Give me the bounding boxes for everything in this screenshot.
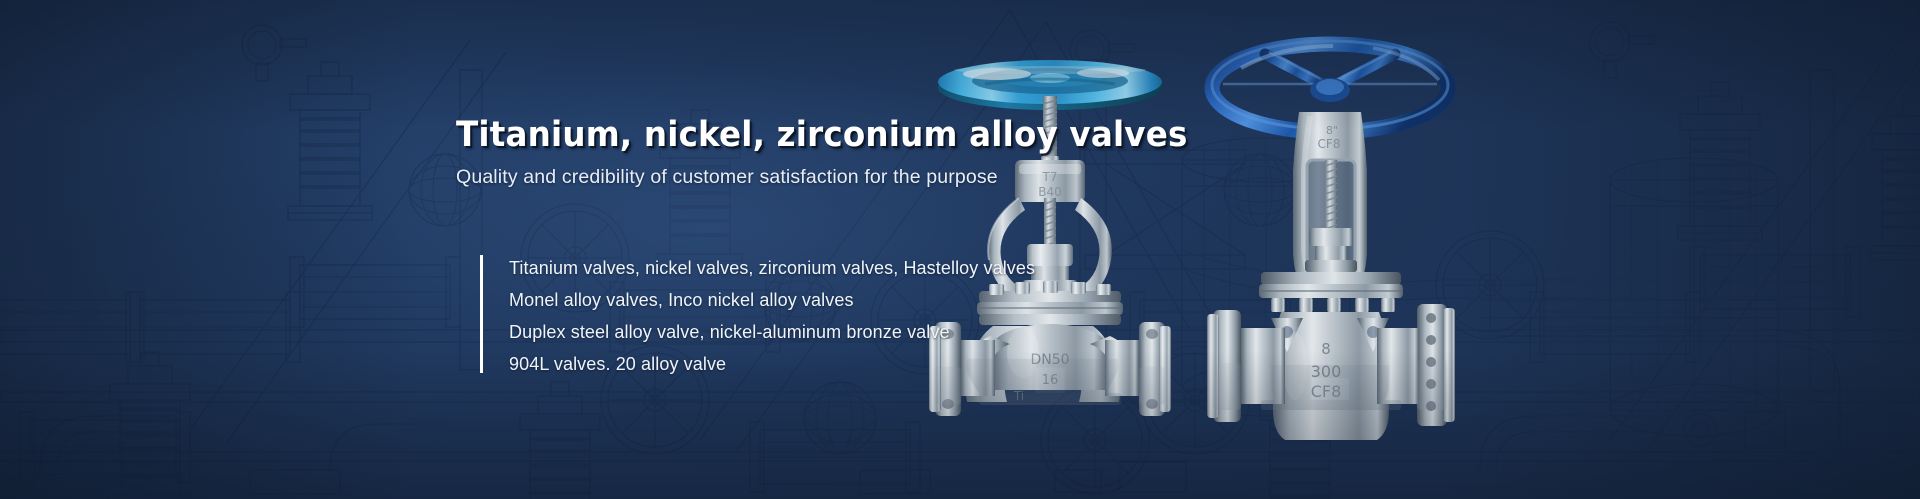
banner-copy: Titanium, nickel, zirconium alloy valves… [456, 118, 1216, 189]
page-subtitle: Quality and credibility of customer sati… [456, 166, 1216, 189]
feature-list: Titanium valves, nickel valves, zirconiu… [480, 255, 1035, 373]
list-item: Duplex steel alloy valve, nickel-aluminu… [509, 319, 1035, 351]
product-banner: T7 B40 [0, 0, 1920, 499]
globe-marking-material: Ti [1013, 389, 1024, 403]
list-item: Titanium valves, nickel valves, zirconiu… [509, 255, 1035, 287]
gate-marking-material: CF8 [1311, 382, 1342, 401]
list-item: Monel alloy valves, Inco nickel alloy va… [509, 287, 1035, 319]
svg-text:CF8: CF8 [1318, 137, 1341, 151]
list-item: 904L valves. 20 alloy valve [509, 351, 1035, 373]
product-image-globe-valve: T7 B40 [915, 48, 1185, 448]
gate-marking-size: 8 [1321, 340, 1331, 358]
product-image-gate-valve: 8" CF8 [1195, 32, 1465, 452]
svg-text:8": 8" [1326, 124, 1338, 137]
gate-marking-class: 300 [1311, 362, 1342, 381]
globe-marking-rating: 16 [1042, 373, 1059, 388]
page-title: Titanium, nickel, zirconium alloy valves [456, 118, 1163, 153]
gate-valve-body: 8 300 CF8 [1271, 312, 1389, 440]
